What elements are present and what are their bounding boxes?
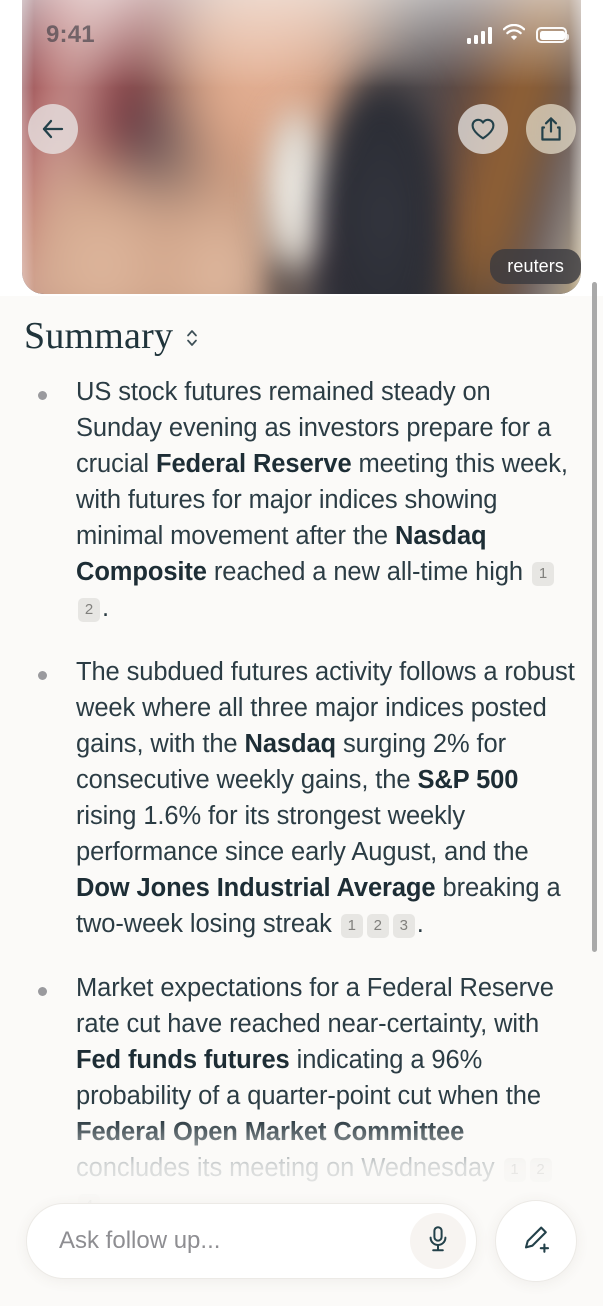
chevron-up-down-icon[interactable] <box>185 325 199 351</box>
body-text: . <box>102 594 109 622</box>
app-root: 9:41 <box>0 0 603 1306</box>
body-text: Market expectations for a Federal Reserv… <box>76 974 554 1038</box>
image-source-badge: reuters <box>490 249 581 284</box>
citation-chip[interactable]: 2 <box>78 598 100 622</box>
citation-chip[interactable]: 3 <box>393 914 415 938</box>
microphone-icon <box>426 1225 450 1258</box>
summary-bullet-list: US stock futures remained steady on Sund… <box>24 374 579 1286</box>
search-input[interactable] <box>59 1227 410 1255</box>
cellular-signal-icon <box>467 27 493 44</box>
new-thread-button[interactable] <box>495 1200 577 1282</box>
summary-bullet-text: The subdued futures activity follows a r… <box>76 654 579 942</box>
back-button[interactable] <box>28 104 78 154</box>
body-text: . <box>417 910 424 938</box>
entity-highlight: Dow Jones Industrial Average <box>76 874 436 902</box>
page-title: Summary <box>24 314 173 358</box>
heart-icon <box>470 117 496 141</box>
status-bar-icons <box>467 24 568 46</box>
citation-chip[interactable]: 1 <box>341 914 363 938</box>
wifi-icon <box>503 24 525 46</box>
body-text: reached a new all-time high <box>207 558 530 586</box>
summary-bullet: The subdued futures activity follows a r… <box>24 654 579 942</box>
entity-highlight: Federal Open Market Committee <box>76 1118 464 1146</box>
citation-chip[interactable]: 1 <box>532 562 554 586</box>
pencil-plus-icon <box>520 1223 552 1260</box>
entity-highlight: Nasdaq <box>245 730 337 758</box>
body-text: rising 1.6% for its strongest weekly per… <box>76 802 529 866</box>
status-bar: 9:41 <box>0 0 603 70</box>
summary-bullet-text: US stock futures remained steady on Sund… <box>76 374 579 626</box>
voice-input-button[interactable] <box>410 1213 466 1269</box>
composer-bar <box>0 1176 603 1306</box>
status-bar-time: 9:41 <box>46 21 95 49</box>
summary-header[interactable]: Summary <box>24 314 579 358</box>
share-icon <box>539 116 563 142</box>
vertical-scrollbar[interactable] <box>592 282 597 952</box>
follow-up-input-container[interactable] <box>26 1203 477 1279</box>
battery-icon <box>536 27 567 43</box>
entity-highlight: Federal Reserve <box>156 450 352 478</box>
citation-chip[interactable]: 2 <box>367 914 389 938</box>
entity-highlight: S&P 500 <box>417 766 518 794</box>
like-button[interactable] <box>458 104 508 154</box>
entity-highlight: Fed funds futures <box>76 1046 290 1074</box>
summary-content: Summary US stock futures remained steady… <box>0 296 603 1306</box>
summary-bullet: US stock futures remained steady on Sund… <box>24 374 579 626</box>
share-button[interactable] <box>526 104 576 154</box>
arrow-left-icon <box>41 118 65 140</box>
